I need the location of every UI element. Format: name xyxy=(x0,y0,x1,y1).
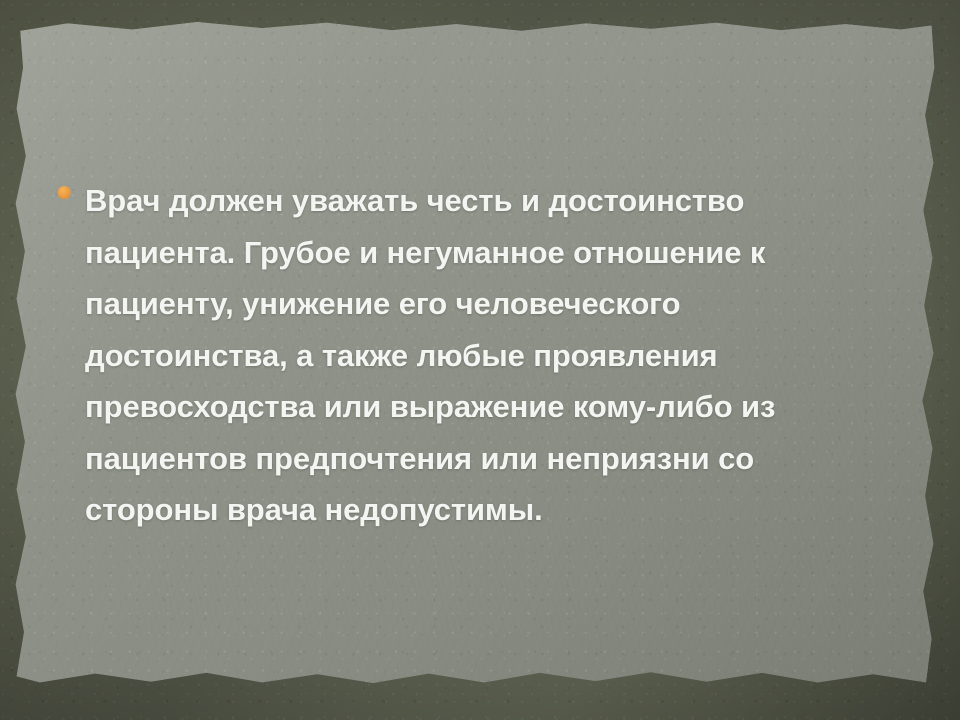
slide-content-body: Врач должен уважать честь и достоинство … xyxy=(55,175,855,536)
slide: Врач должен уважать честь и достоинство … xyxy=(0,0,960,720)
bullet-dot-icon xyxy=(58,186,71,199)
list-item: Врач должен уважать честь и достоинство … xyxy=(55,175,855,536)
bullet-paragraph-text: Врач должен уважать честь и достоинство … xyxy=(85,175,845,536)
